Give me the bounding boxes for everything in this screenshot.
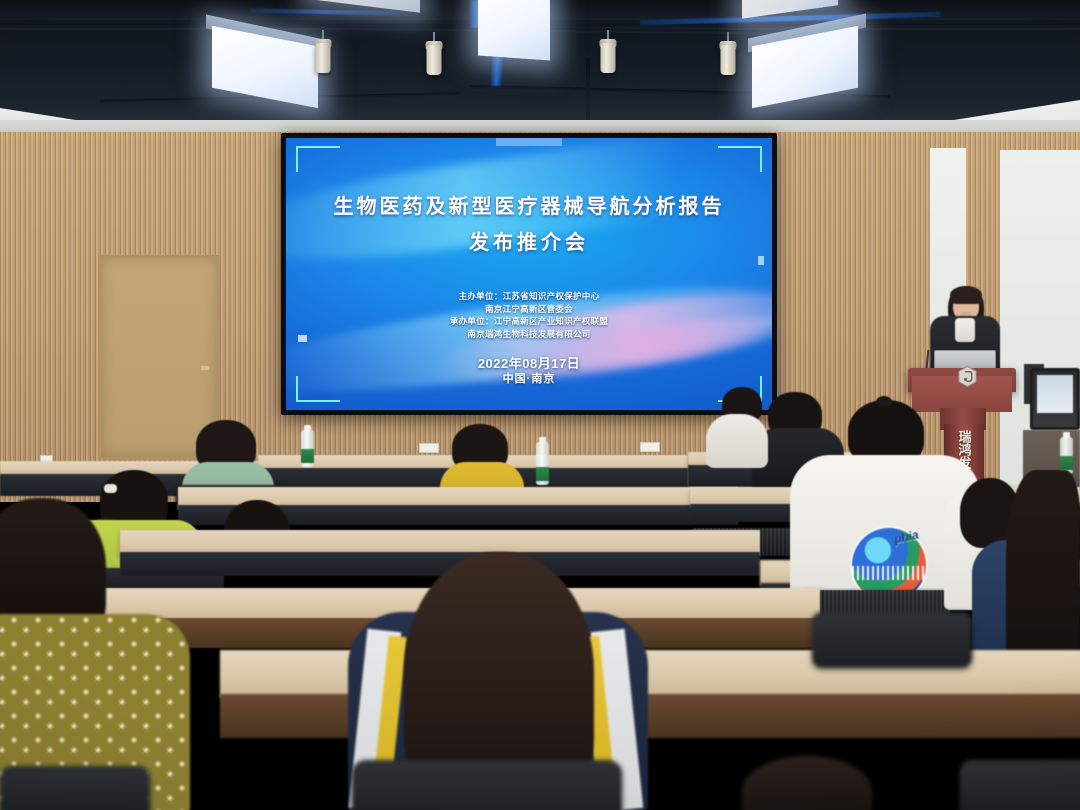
slide-title-line1: 生物医药及新型医疗器械导航分析报告 bbox=[286, 190, 772, 219]
ceiling-led-panel bbox=[478, 0, 550, 61]
water-bottle[interactable] bbox=[301, 425, 314, 467]
organizer-label: 主办单位： bbox=[459, 291, 503, 301]
pendant-spotlight bbox=[598, 30, 618, 84]
slide-title-line2: 发布推介会 bbox=[286, 226, 772, 255]
slide-place: 中国·南京 bbox=[286, 370, 772, 386]
pendant-spotlight bbox=[313, 30, 333, 84]
chair-back bbox=[812, 612, 972, 668]
water-bottle[interactable] bbox=[536, 437, 549, 485]
organizer-row: 承办单位：江宁高新区产业知识产权联盟 bbox=[286, 315, 772, 328]
conference-room-photo: 生物医药及新型医疗器械导航分析报告 发布推介会 主办单位：江苏省知识产权保护中心… bbox=[0, 0, 1080, 810]
wall-plate bbox=[419, 443, 439, 453]
chair-back bbox=[960, 760, 1080, 810]
hexagon-logo-icon bbox=[958, 366, 977, 387]
attendee-hair bbox=[742, 756, 872, 810]
organizer-value: 江苏省知识产权保护中心 bbox=[503, 291, 600, 301]
organizer-value: 江宁高新区产业知识产权联盟 bbox=[494, 316, 608, 326]
organizer-row: 主办单位：江苏省知识产权保护中心 bbox=[286, 290, 772, 303]
slide-text-block: 生物医药及新型医疗器械导航分析报告 发布推介会 主办单位：江苏省知识产权保护中心… bbox=[286, 138, 772, 410]
tshirt-globe-band bbox=[852, 566, 926, 579]
desk-front-panel bbox=[120, 552, 760, 576]
organizer-row: 南京瑞鸿生物科技发展有限公司 bbox=[286, 328, 772, 341]
presenter-collar bbox=[955, 318, 975, 342]
ceiling bbox=[0, 0, 1080, 132]
chair-back bbox=[352, 760, 622, 810]
organizer-label: 承办单位： bbox=[450, 316, 494, 326]
slide-organizers: 主办单位：江苏省知识产权保护中心 南京江宁高新区管委会 承办单位：江宁高新区产业… bbox=[286, 290, 772, 340]
organizer-row: 南京江宁高新区管委会 bbox=[286, 303, 772, 316]
attendee-hair-bun bbox=[876, 396, 892, 408]
door-handle[interactable] bbox=[201, 366, 209, 370]
organizer-value: 南京江宁高新区管委会 bbox=[485, 304, 573, 314]
organizer-value: 南京瑞鸿生物科技发展有限公司 bbox=[467, 329, 590, 339]
attendee-torso bbox=[706, 414, 768, 468]
water-bottle[interactable] bbox=[1060, 432, 1073, 474]
hair-tie bbox=[104, 484, 117, 493]
pendant-spotlight bbox=[718, 32, 738, 86]
presenter-hair-top bbox=[950, 286, 982, 304]
projection-screen: 生物医药及新型医疗器械导航分析报告 发布推介会 主办单位：江苏省知识产权保护中心… bbox=[281, 133, 777, 415]
chair-back bbox=[0, 766, 150, 810]
side-monitor bbox=[1030, 368, 1080, 430]
side-monitor-screen bbox=[1037, 375, 1073, 413]
slide-surface: 生物医药及新型医疗器械导航分析报告 发布推介会 主办单位：江苏省知识产权保护中心… bbox=[286, 138, 772, 410]
pendant-spotlight bbox=[424, 32, 444, 86]
ceiling-hanger-rod bbox=[586, 58, 590, 124]
wall-plate bbox=[640, 442, 660, 452]
